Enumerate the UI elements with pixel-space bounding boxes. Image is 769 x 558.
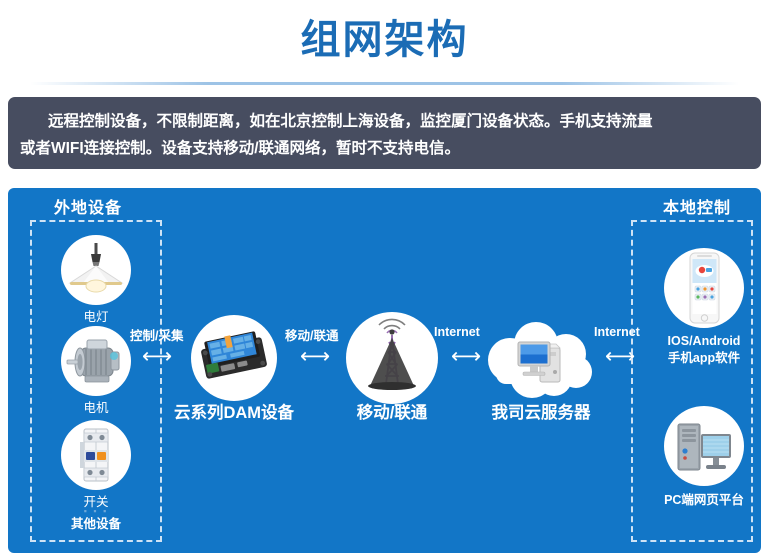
dam-controller-board-icon: [191, 315, 277, 401]
link-2-label: 移动/联通: [285, 325, 338, 344]
banner-line-2: 或者WIFI连接控制。设备支持移动/联通网络，暂时不支持电信。: [20, 135, 749, 162]
right-item-label-0-line1: IOS/Android: [649, 334, 759, 349]
node-3-label: 我司云服务器: [461, 406, 621, 421]
left-item-label-0: 电灯: [46, 310, 146, 325]
right-panel-header: 本地控制: [663, 194, 731, 218]
right-item-label-0-line2: 手机app软件: [649, 351, 759, 366]
cloud-server-icon: [480, 320, 602, 402]
banner-line-1: 远程控制设备，不限制距离，如在北京控制上海设备，监控厦门设备状态。手机支持流量: [20, 108, 749, 135]
left-item-label-1: 电机: [46, 401, 146, 416]
node-2-label: 移动/联通: [312, 406, 472, 421]
circuit-breaker-icon: [61, 420, 131, 490]
link-2-arrow: ⟷: [300, 346, 330, 367]
left-panel-header: 外地设备: [54, 194, 122, 218]
smartphone-app-icon: [664, 248, 744, 328]
link-1-label: 控制/采集: [130, 325, 183, 344]
description-banner: 远程控制设备，不限制距离，如在北京控制上海设备，监控厦门设备状态。手机支持流量 …: [8, 97, 761, 169]
architecture-diagram: 外地设备 本地控制 电灯: [8, 188, 761, 553]
right-item-label-1-line1: PC端网页平台: [649, 493, 759, 508]
title-divider: [30, 82, 739, 85]
cell-tower-icon: [346, 312, 438, 404]
link-3-arrow: ⟷: [451, 346, 481, 367]
page-title: 组网架构: [0, 18, 769, 62]
link-1-arrow: ⟷: [142, 346, 172, 367]
link-3-label: Internet: [434, 325, 480, 339]
electric-motor-icon: [61, 326, 131, 396]
more-devices-ellipsis: ▪ ▪ ▪: [8, 506, 184, 516]
pendant-lamp-icon: [61, 235, 131, 305]
desktop-pc-icon: [664, 406, 744, 486]
more-devices-label: 其他设备: [46, 517, 146, 532]
node-1-label: 云系列DAM设备: [154, 406, 314, 421]
